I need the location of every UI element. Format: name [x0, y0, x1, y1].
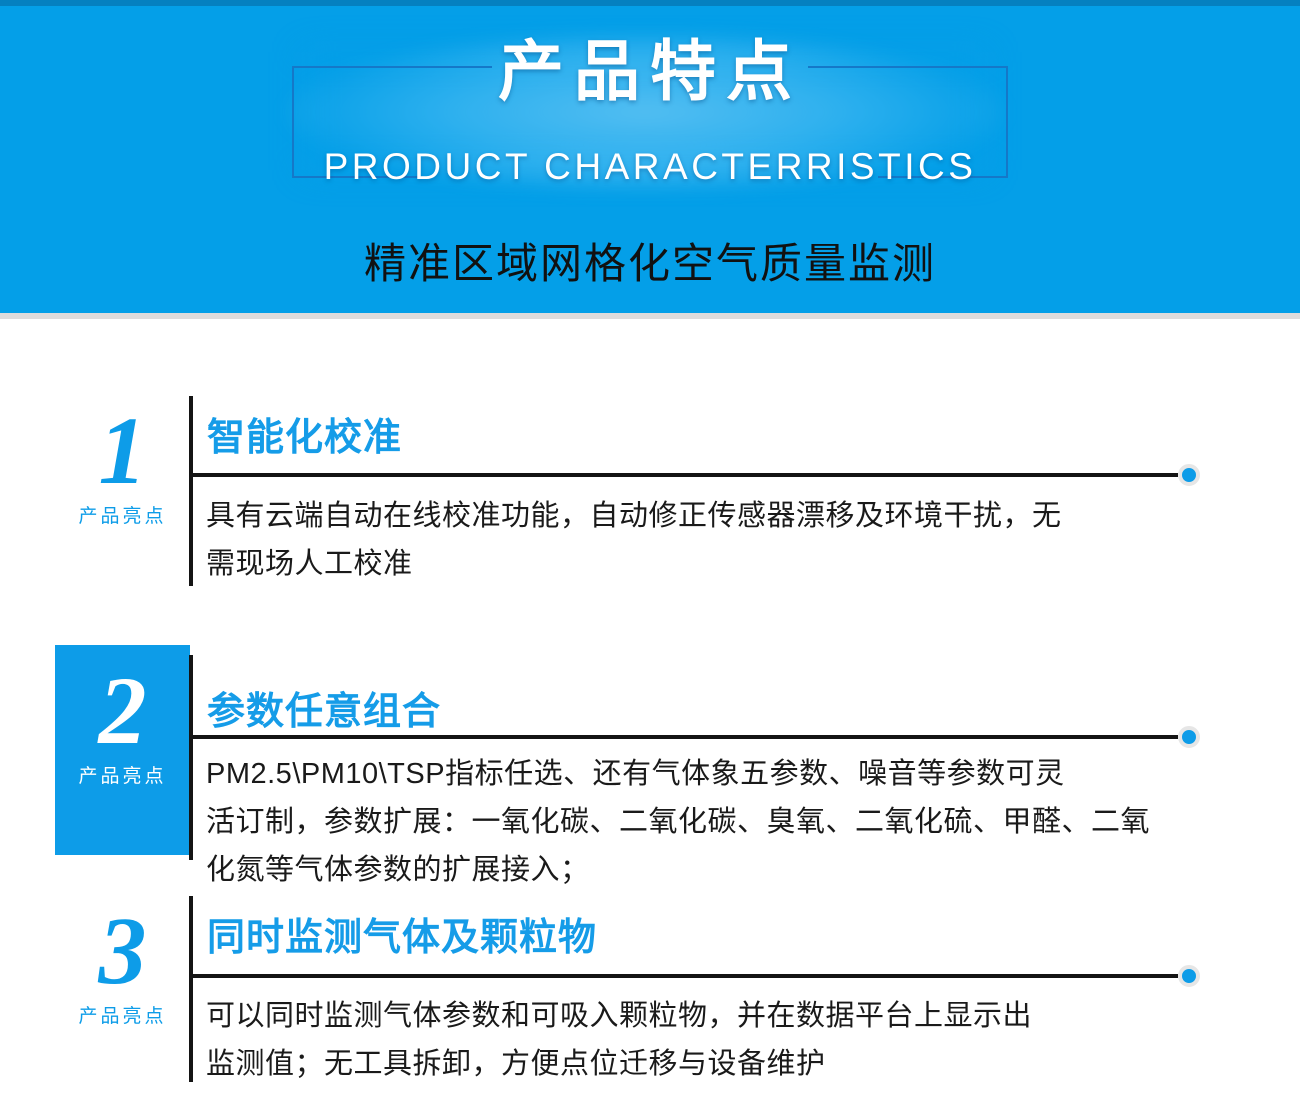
feature-caption-1: 产品亮点 — [55, 501, 190, 528]
feature-body-line: 活订制，参数扩展：一氧化碳、二氧化碳、臭氧、二氧化硫、甲醛、二氧 — [206, 798, 1181, 846]
header-tagline: 精准区域网格化空气质量监测 — [0, 230, 1300, 291]
feature-vertical-bar-1 — [189, 396, 193, 586]
feature-number-2: 2 — [55, 663, 190, 759]
feature-badge-3: 3 产品亮点 — [55, 903, 190, 1028]
feature-body-3: 可以同时监测气体参数和可吸入颗粒物，并在数据平台上显示出 监测值；无工具拆卸，方… — [206, 992, 1181, 1088]
feature-title-1: 智能化校准 — [207, 406, 402, 461]
feature-body-1: 具有云端自动在线校准功能，自动修正传感器漂移及环境干扰，无 需现场人工校准 — [206, 492, 1181, 588]
feature-caption-2: 产品亮点 — [55, 761, 190, 788]
header-title: 产品特点 — [0, 30, 1300, 113]
feature-end-dot-3 — [1178, 965, 1200, 987]
feature-body-line: 需现场人工校准 — [206, 540, 1181, 588]
feature-badge-1: 1 产品亮点 — [55, 403, 190, 528]
feature-end-dot-1 — [1178, 464, 1200, 486]
feature-body-line: 化氮等气体参数的扩展接入； — [206, 846, 1181, 894]
header-subtitle: PRODUCT CHARACTERRISTICS — [0, 146, 1300, 188]
product-characteristics-page: 产品特点 PRODUCT CHARACTERRISTICS 精准区域网格化空气质… — [0, 0, 1300, 1103]
feature-title-3: 同时监测气体及颗粒物 — [207, 906, 597, 961]
feature-caption-3: 产品亮点 — [55, 1001, 190, 1028]
feature-divider-2 — [190, 735, 1178, 739]
feature-title-2: 参数任意组合 — [207, 680, 441, 735]
feature-body-line: 具有云端自动在线校准功能，自动修正传感器漂移及环境干扰，无 — [206, 492, 1181, 540]
feature-vertical-bar-3 — [189, 896, 193, 1082]
feature-divider-3 — [190, 974, 1178, 978]
header-banner: 产品特点 PRODUCT CHARACTERRISTICS 精准区域网格化空气质… — [0, 6, 1300, 313]
feature-body-2: PM2.5\PM10\TSP指标任选、还有气体象五参数、噪音等参数可灵 活订制，… — [206, 750, 1181, 894]
feature-badge-2: 2 产品亮点 — [55, 645, 190, 855]
feature-end-dot-2 — [1178, 726, 1200, 748]
feature-body-line: 可以同时监测气体参数和可吸入颗粒物，并在数据平台上显示出 — [206, 992, 1181, 1040]
feature-divider-1 — [190, 473, 1178, 477]
feature-vertical-bar-2 — [189, 655, 193, 860]
header-bottom-divider — [0, 313, 1300, 319]
feature-number-1: 1 — [55, 403, 190, 499]
feature-body-line: 监测值；无工具拆卸，方便点位迁移与设备维护 — [206, 1040, 1181, 1088]
feature-body-line: PM2.5\PM10\TSP指标任选、还有气体象五参数、噪音等参数可灵 — [206, 750, 1181, 798]
feature-number-3: 3 — [55, 903, 190, 999]
